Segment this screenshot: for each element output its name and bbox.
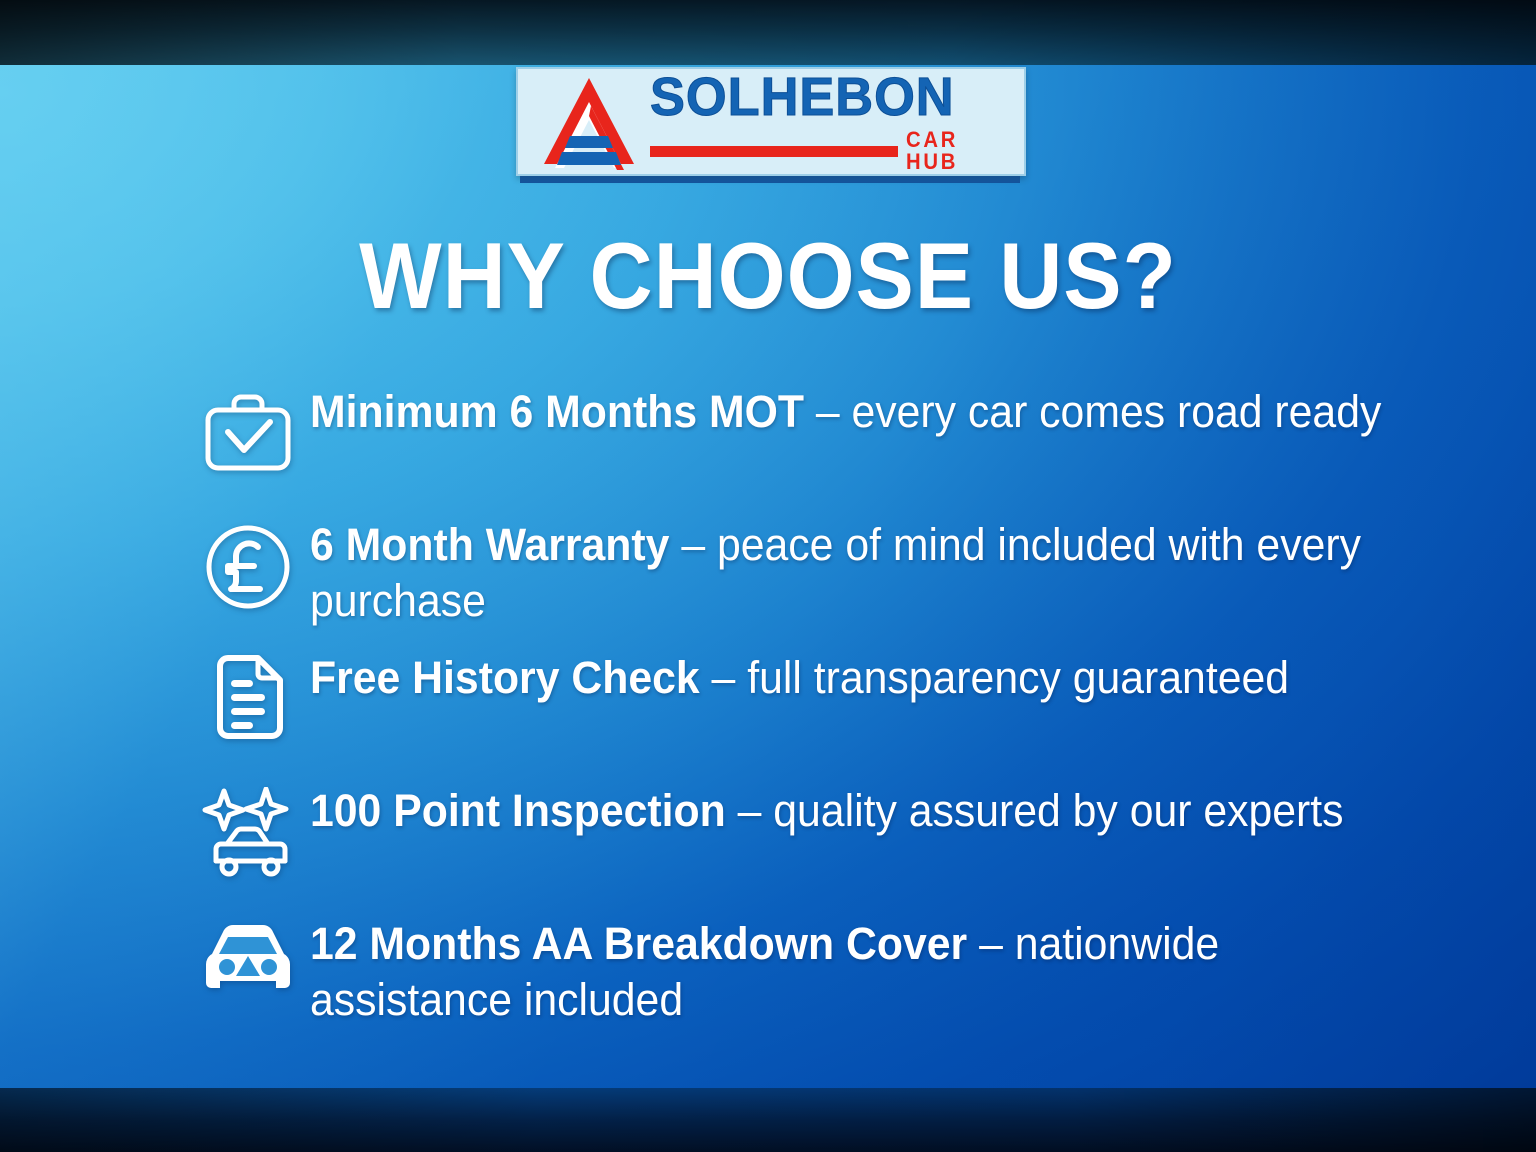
benefit-text: Free History Check – full transparency g… <box>310 648 1427 706</box>
pound-coin-icon <box>200 521 296 613</box>
benefit-description: – full transparency guaranteed <box>700 652 1289 703</box>
benefit-icon-slot <box>186 648 310 746</box>
benefit-title: Minimum 6 Months MOT <box>310 386 804 437</box>
benefit-title: 12 Months AA Breakdown Cover <box>310 918 967 969</box>
logo-subtitle: CAR HUB <box>906 129 1015 173</box>
benefit-icon-slot <box>186 914 310 1002</box>
benefit-text: 6 Month Warranty – peace of mind include… <box>310 515 1427 629</box>
document-lines-icon <box>200 654 296 746</box>
solhebon-triangle-mark <box>534 72 646 172</box>
list-item: 6 Month Warranty – peace of mind include… <box>186 515 1486 635</box>
logo-red-bar <box>650 146 898 157</box>
briefcase-check-icon <box>200 388 296 480</box>
benefit-icon-slot <box>186 382 310 480</box>
list-item: Minimum 6 Months MOT – every car comes r… <box>186 382 1486 502</box>
list-item: 100 Point Inspection – quality assured b… <box>186 781 1486 901</box>
logo-wordmark-group: SOLHEBON CAR HUB <box>650 70 1024 173</box>
page-title: WHY CHOOSE US? <box>54 222 1482 330</box>
list-item: 12 Months AA Breakdown Cover – nationwid… <box>186 914 1486 1034</box>
logo-wordmark: SOLHEBON <box>650 70 1013 124</box>
benefit-text: 12 Months AA Breakdown Cover – nationwid… <box>310 914 1427 1028</box>
list-item: Free History Check – full transparency g… <box>186 648 1486 768</box>
benefit-title: 6 Month Warranty <box>310 519 669 570</box>
benefits-list: Minimum 6 Months MOT – every car comes r… <box>186 382 1486 1047</box>
benefit-text: Minimum 6 Months MOT – every car comes r… <box>310 382 1427 440</box>
benefit-icon-slot <box>186 515 310 613</box>
brand-logo[interactable]: SOLHEBON CAR HUB <box>516 67 1026 176</box>
benefit-description: – every car comes road ready <box>804 386 1381 437</box>
promo-graphic: SOLHEBON CAR HUB WHY CHOOSE US? Minimum … <box>0 0 1536 1152</box>
sparkle-car-icon <box>198 787 298 879</box>
car-front-icon <box>198 920 298 1002</box>
logo-sub-row: CAR HUB <box>650 129 1024 173</box>
benefit-title: Free History Check <box>310 652 700 703</box>
benefit-description: – quality assured by our experts <box>726 785 1344 836</box>
benefit-icon-slot <box>186 781 310 879</box>
benefit-text: 100 Point Inspection – quality assured b… <box>310 781 1427 839</box>
benefit-title: 100 Point Inspection <box>310 785 726 836</box>
